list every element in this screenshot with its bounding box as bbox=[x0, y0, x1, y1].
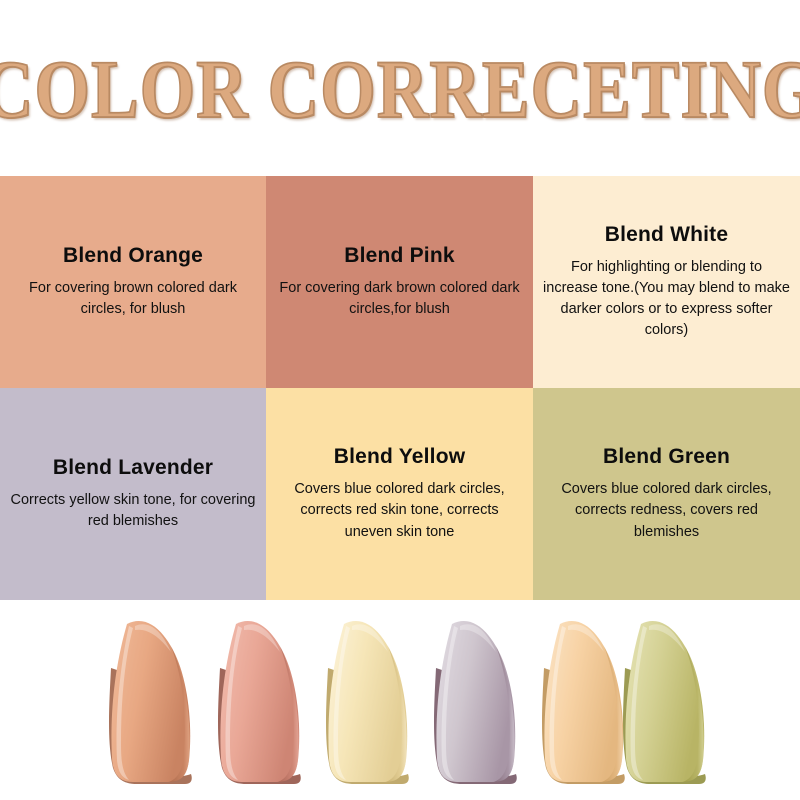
pink-concealer-swatch bbox=[212, 610, 316, 790]
cell-description: Corrects yellow skin tone, for covering … bbox=[10, 490, 256, 532]
grid-cell-blend-pink: Blend Pink For covering dark brown color… bbox=[266, 176, 533, 388]
title-band: COLOR CORRECETING bbox=[0, 0, 800, 176]
cell-title: Blend Yellow bbox=[334, 445, 466, 469]
orange-concealer-swatch bbox=[103, 610, 207, 790]
cell-title: Blend White bbox=[605, 223, 729, 247]
cell-description: For covering brown colored dark circles,… bbox=[10, 278, 256, 320]
cell-description: Covers blue colored dark circles, correc… bbox=[276, 479, 523, 542]
cell-description: Covers blue colored dark circles, correc… bbox=[543, 479, 790, 542]
grid-cell-blend-yellow: Blend Yellow Covers blue colored dark ci… bbox=[266, 388, 533, 600]
cell-description: For highlighting or blending to increase… bbox=[543, 257, 790, 341]
cell-description: For covering dark brown colored dark cir… bbox=[276, 278, 523, 320]
grid-cell-blend-orange: Blend Orange For covering brown colored … bbox=[0, 176, 266, 388]
cell-title: Blend Lavender bbox=[53, 456, 213, 480]
grid-cell-blend-green: Blend Green Covers blue colored dark cir… bbox=[533, 388, 800, 600]
grid-cell-blend-lavender: Blend Lavender Corrects yellow skin tone… bbox=[0, 388, 266, 600]
lavender-concealer-swatch bbox=[428, 610, 532, 790]
cell-title: Blend Green bbox=[603, 445, 730, 469]
green-concealer-swatch bbox=[617, 610, 721, 790]
cell-title: Blend Orange bbox=[63, 244, 203, 268]
concealer-swatch-strip bbox=[0, 600, 800, 800]
page-title: COLOR CORRECETING bbox=[0, 50, 800, 133]
cell-title: Blend Pink bbox=[344, 244, 455, 268]
grid-cell-blend-white: Blend White For highlighting or blending… bbox=[533, 176, 800, 388]
white-concealer-swatch bbox=[320, 610, 424, 790]
color-correcting-grid: Blend Orange For covering brown colored … bbox=[0, 176, 800, 600]
color-correcting-infographic: COLOR CORRECETING Blend Orange For cover… bbox=[0, 0, 800, 800]
